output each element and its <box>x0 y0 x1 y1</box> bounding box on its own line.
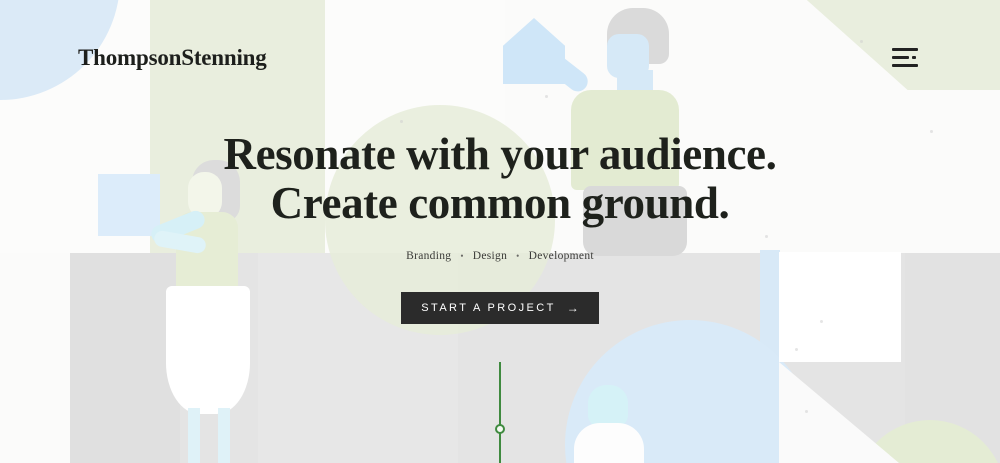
service-design: Design <box>473 250 507 262</box>
background-gray-block-left <box>70 253 180 463</box>
background-speck <box>400 120 403 123</box>
illustration-leg-right <box>218 408 230 463</box>
service-branding: Branding <box>406 250 451 262</box>
menu-bar-bottom <box>892 64 918 67</box>
background-gray-block-center <box>258 253 458 463</box>
illustration-leg-left <box>188 408 200 463</box>
service-separator: • <box>460 251 463 261</box>
illustration-arm-upper <box>149 208 208 246</box>
illustration-face <box>188 172 222 218</box>
hero-section: ThompsonStenning Resonate with your audi… <box>0 0 1000 463</box>
service-separator: • <box>516 251 519 261</box>
scroll-indicator-line <box>499 362 501 463</box>
start-a-project-button[interactable]: START A PROJECT → <box>401 292 598 324</box>
scroll-indicator[interactable] <box>499 362 501 463</box>
background-gray-block-right <box>905 253 1000 463</box>
illustration-hair <box>192 160 240 222</box>
scroll-indicator-dot <box>495 424 505 434</box>
illustration-torso <box>176 212 238 290</box>
background-blue-strip <box>760 250 780 430</box>
headline-line-2: Create common ground. <box>224 179 777 228</box>
illustration-body <box>574 423 644 463</box>
hero-headline: Resonate with your audience. Create comm… <box>224 130 777 228</box>
headline-line-1: Resonate with your audience. <box>224 130 777 179</box>
background-white-card <box>779 252 901 362</box>
hamburger-menu-icon[interactable] <box>892 45 922 71</box>
arrow-right-icon: → <box>567 301 579 315</box>
illustration-arm-lower <box>153 230 207 255</box>
illustration-person-left <box>140 160 270 463</box>
background-white-wedge <box>779 362 899 463</box>
illustration-head <box>588 385 628 427</box>
background-speck <box>805 410 808 413</box>
background-speck <box>765 235 768 238</box>
service-development: Development <box>529 250 594 262</box>
background-gray-band <box>70 253 1000 463</box>
service-list: Branding • Design • Development <box>406 250 594 262</box>
illustration-person-bottom <box>570 385 650 463</box>
background-speck <box>820 320 823 323</box>
cta-label: START A PROJECT <box>421 302 555 314</box>
illustration-blue-square <box>98 174 160 236</box>
menu-bar-middle-row <box>892 56 922 59</box>
site-logo[interactable]: ThompsonStenning <box>78 45 267 71</box>
illustration-skirt <box>166 286 250 414</box>
menu-bar-dot <box>912 56 916 59</box>
background-blue-circle-bottom-right <box>565 320 815 463</box>
menu-bar-middle <box>892 56 909 59</box>
background-speck <box>795 348 798 351</box>
background-speck <box>930 130 933 133</box>
menu-bar-top <box>892 48 918 51</box>
background-green-circle-bottom-right <box>855 420 1000 463</box>
illustration-leg <box>583 186 687 256</box>
site-header: ThompsonStenning <box>0 0 1000 115</box>
